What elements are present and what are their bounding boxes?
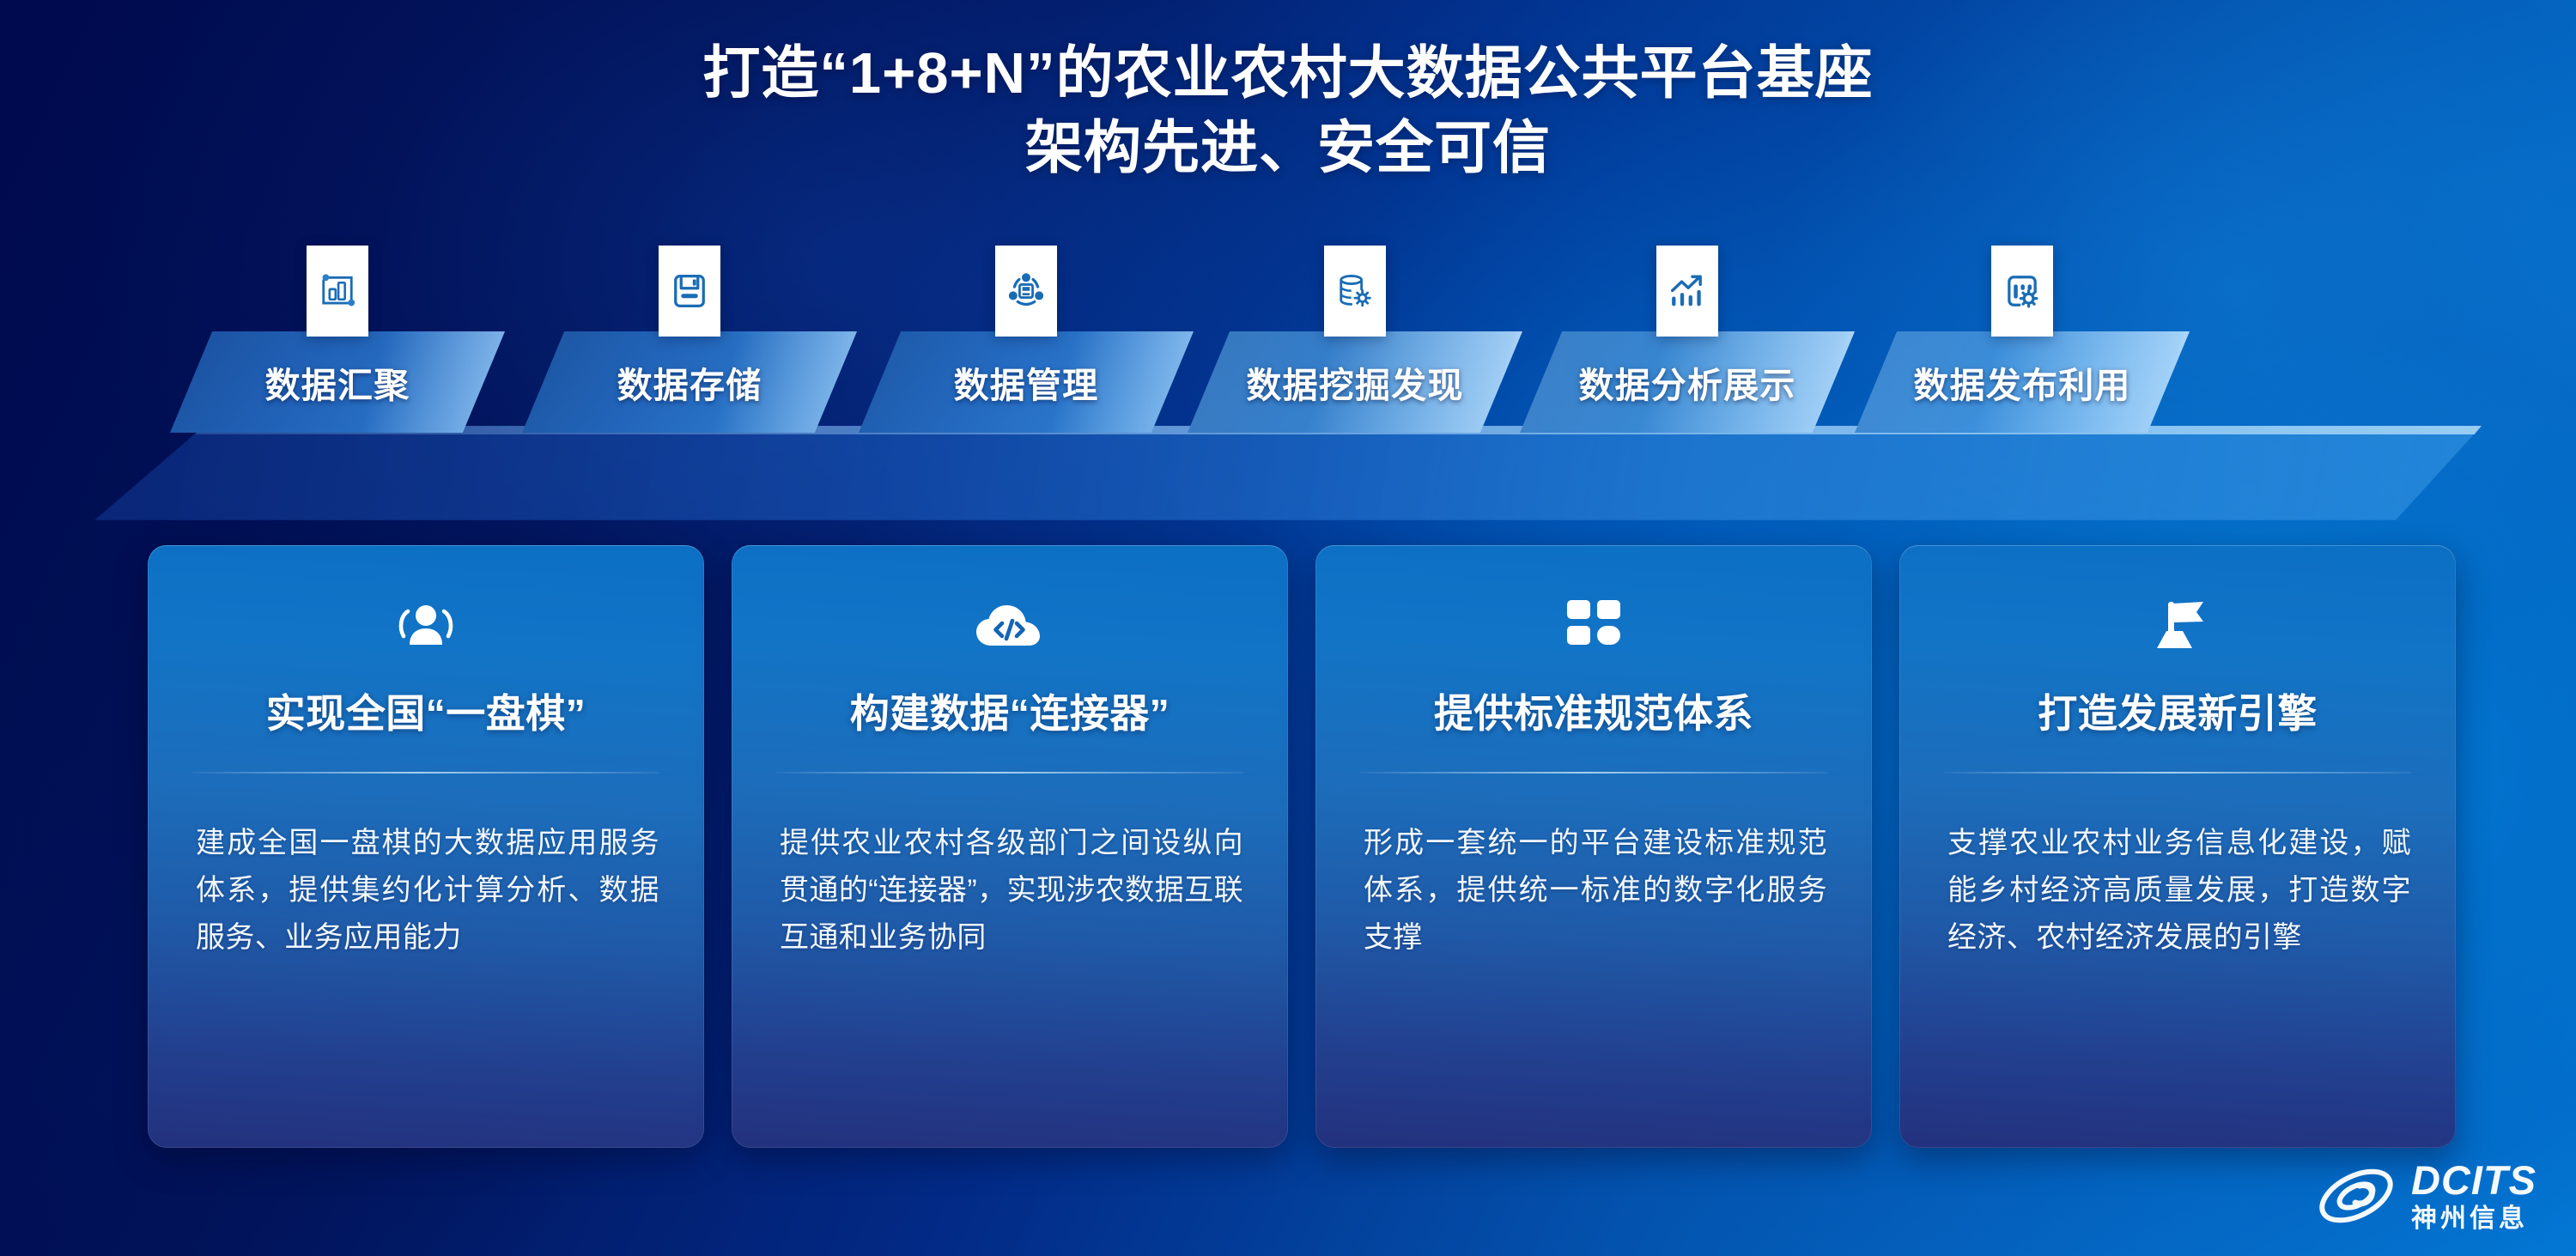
pipeline-step-4[interactable]: 数据挖掘发现 [1188, 331, 1522, 433]
floppy-disk-icon [659, 246, 720, 337]
feature-card-1-description: 建成全国一盘棋的大数据应用服务体系，提供集约化计算分析、数据服务、业务应用能力 [196, 820, 659, 962]
feature-card-2-title: 构建数据“连接器” [732, 683, 1288, 739]
feature-card-4-title: 打造发展新引擎 [1899, 683, 2456, 739]
slide-title-line2: 架构先进、安全可信 [0, 111, 2576, 185]
feature-card-3-description: 形成一套统一的平台建设标准规范体系，提供统一标准的数字化服务支撑 [1364, 820, 1827, 962]
logo-wordmark: DCITS 神州信息 [2411, 1160, 2537, 1232]
step-1-label: 数据汇聚 [170, 331, 505, 433]
feature-card-2-description: 提供农业农村各级部门之间设纵向贯通的“连接器”，实现涉农数据互联互通和业务协同 [780, 820, 1243, 962]
users-group-icon [148, 595, 704, 658]
pipeline-step-3[interactable]: 数据管理 [859, 331, 1194, 433]
step-5-label: 数据分析展示 [1520, 331, 1855, 433]
pipeline-step-5[interactable]: 数据分析展示 [1520, 331, 1855, 433]
logo-name-en: DCITS [2411, 1160, 2537, 1200]
flag-summit-icon [1899, 595, 2456, 658]
pipeline-steps: 数据汇聚 数据存储 [0, 258, 2576, 515]
feature-card-2-divider [776, 772, 1243, 774]
feature-card-1[interactable]: 实现全国“一盘棋” 建成全国一盘棋的大数据应用服务体系，提供集约化计算分析、数据… [148, 545, 704, 1148]
feature-card-4-description: 支撑农业农村业务信息化建设，赋能乡村经济高质量发展，打造数字经济、农村经济发展的… [1947, 820, 2411, 962]
document-network-icon [995, 246, 1057, 337]
cloud-code-icon [732, 595, 1288, 658]
database-gear-icon [1324, 246, 1386, 337]
panel-gear-icon [1991, 246, 2053, 337]
step-6-label: 数据发布利用 [1855, 331, 2190, 433]
company-logo: DCITS 神州信息 [2315, 1160, 2537, 1232]
feature-card-1-divider [192, 772, 659, 774]
pipeline-step-1[interactable]: 数据汇聚 [170, 331, 505, 433]
feature-card-2[interactable]: 构建数据“连接器” 提供农业农村各级部门之间设纵向贯通的“连接器”，实现涉农数据… [732, 545, 1288, 1148]
pipeline-ribbon: 数据汇聚 数据存储 [0, 258, 2576, 515]
swirl-at-icon [2315, 1160, 2397, 1232]
pipeline-step-2[interactable]: 数据存储 [522, 331, 857, 433]
feature-card-1-title: 实现全国“一盘棋” [148, 683, 704, 739]
feature-card-3-divider [1360, 772, 1827, 774]
bar-chart-node-icon [307, 246, 368, 337]
feature-card-4-divider [1944, 772, 2411, 774]
logo-name-cn: 神州信息 [2411, 1206, 2537, 1232]
feature-card-3-title: 提供标准规范体系 [1315, 683, 1872, 739]
trend-chart-icon [1656, 246, 1718, 337]
step-2-label: 数据存储 [522, 331, 857, 433]
pipeline-step-6[interactable]: 数据发布利用 [1855, 331, 2190, 433]
feature-card-4[interactable]: 打造发展新引擎 支撑农业农村业务信息化建设，赋能乡村经济高质量发展，打造数字经济… [1899, 545, 2456, 1148]
slide-title-line1: 打造“1+8+N”的农业农村大数据公共平台基座 [702, 41, 1873, 106]
step-4-label: 数据挖掘发现 [1188, 331, 1522, 433]
feature-card-3[interactable]: 提供标准规范体系 形成一套统一的平台建设标准规范体系，提供统一标准的数字化服务支… [1315, 545, 1872, 1148]
grid-squares-icon [1315, 595, 1872, 658]
slide-canvas: 打造“1+8+N”的农业农村大数据公共平台基座 架构先进、安全可信 [0, 0, 2576, 1256]
step-3-label: 数据管理 [859, 331, 1194, 433]
feature-cards: 实现全国“一盘棋” 建成全国一盘棋的大数据应用服务体系，提供集约化计算分析、数据… [0, 545, 2576, 1148]
slide-title: 打造“1+8+N”的农业农村大数据公共平台基座 架构先进、安全可信 [0, 36, 2576, 185]
